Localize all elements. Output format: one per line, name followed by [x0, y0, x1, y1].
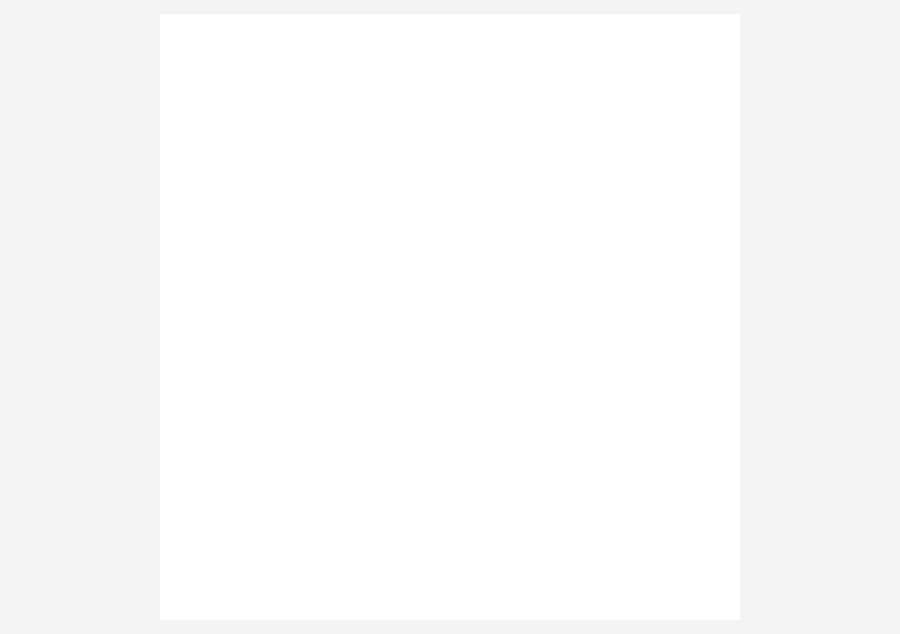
figure-canvas: 10410310210110-110-2D(z)0.49 nb-1 Pb+Pb2…: [0, 0, 900, 634]
figure-white-background: [160, 14, 740, 620]
